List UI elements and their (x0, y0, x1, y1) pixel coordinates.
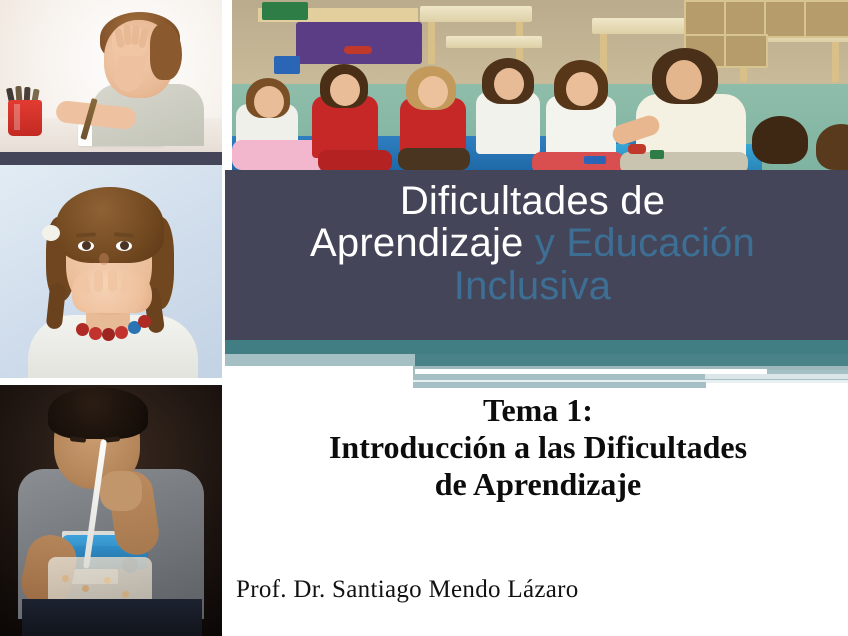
mat-toy (628, 144, 646, 154)
child-head (566, 72, 598, 106)
subtitle-line-3: de Aprendizaje (228, 466, 848, 503)
photo-girl-covering-mouth (0, 165, 222, 378)
title-panel: Dificultades de Aprendizaje y Educación … (225, 170, 848, 340)
table-leg (832, 42, 839, 82)
left-photo-column (0, 0, 222, 636)
child-head (418, 76, 448, 108)
bag-content (104, 577, 111, 584)
stripe-light-lower (413, 382, 706, 388)
finger (121, 272, 133, 295)
title-main-text: Aprendizaje (310, 221, 523, 265)
mat-toy (650, 150, 664, 159)
title-accent-text: y Educación (524, 221, 755, 265)
finger (78, 272, 91, 295)
cubby-cell (764, 0, 808, 38)
cubby-cell (684, 0, 728, 38)
child-legs (398, 148, 470, 170)
title-line-2: Aprendizaje y Educación (225, 222, 840, 264)
classroom-banner-photo (232, 0, 848, 170)
table-leg (428, 22, 435, 64)
title-line-3: Inclusiva (225, 265, 840, 307)
finger (123, 25, 131, 45)
child-hair (48, 387, 148, 439)
stripe-white-left (225, 366, 415, 388)
bead (76, 323, 89, 336)
cubby-cell (804, 0, 848, 38)
cup-highlight (14, 104, 20, 130)
bag-content (122, 591, 129, 598)
flower-necklace (74, 311, 148, 333)
blue-box (274, 56, 300, 74)
bead (115, 326, 128, 339)
teacher-head (666, 60, 702, 100)
child-head (494, 68, 524, 100)
photo-separator-light (0, 378, 222, 385)
table-top (420, 6, 532, 22)
child-hair-top (56, 187, 164, 263)
finger (94, 270, 103, 292)
photo-boy-drinking-straw (0, 385, 222, 636)
child-hair (752, 116, 808, 164)
bead (138, 315, 151, 328)
teacher-legs (620, 152, 748, 170)
photo-separator-dark (0, 152, 222, 165)
child-head (330, 74, 360, 106)
subtitle-line-1: Tema 1: (228, 392, 848, 429)
decorative-stripe-band (225, 340, 848, 388)
child-legs (318, 150, 392, 170)
nose (99, 253, 109, 265)
bead (89, 327, 102, 340)
child-head (254, 86, 284, 118)
bin-handle (344, 46, 372, 54)
dark-pants (22, 599, 202, 636)
cubby-cell (724, 0, 768, 38)
hand-over-mouth (72, 269, 152, 313)
slide-subtitle: Tema 1: Introducción a las Dificultades … (228, 392, 848, 503)
finger (108, 270, 117, 292)
cubby-cell (724, 34, 768, 68)
subtitle-line-2: Introducción a las Dificultades (228, 429, 848, 466)
green-board (262, 2, 308, 20)
mat-toy (584, 156, 606, 164)
bag-content (62, 575, 69, 582)
photo-boy-writing (0, 0, 222, 152)
slide-title: Dificultades de Aprendizaje y Educación … (225, 180, 840, 307)
bead (102, 328, 115, 341)
pupil (120, 241, 129, 250)
bag-content (82, 585, 89, 592)
child-legs (532, 152, 624, 170)
storage-bin (296, 22, 422, 64)
stripe-light-left (225, 354, 415, 366)
child-hand (100, 471, 142, 511)
teal-accent-bar (225, 340, 848, 354)
hair-bow (42, 225, 60, 241)
pupil (82, 241, 91, 250)
presentation-slide: Dificultades de Aprendizaje y Educación … (0, 0, 848, 636)
title-line-1: Dificultades de (225, 180, 840, 222)
chair-back (446, 36, 542, 48)
stripe-pale-right (705, 374, 848, 379)
author-line: Prof. Dr. Santiago Mendo Lázaro (236, 576, 796, 604)
